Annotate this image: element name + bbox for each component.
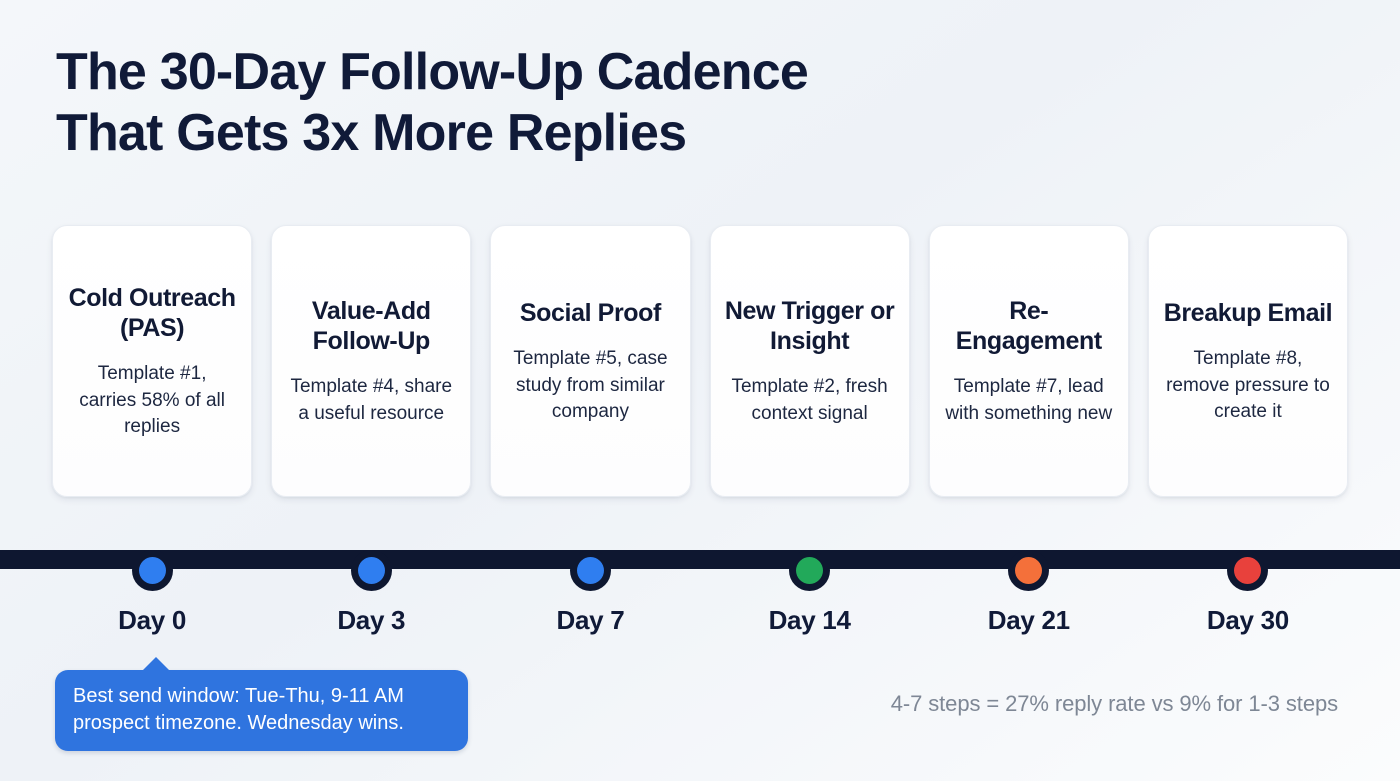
timeline-dot-icon bbox=[132, 550, 173, 591]
callout-text: Best send window: Tue-Thu, 9-11 AM prosp… bbox=[73, 683, 450, 737]
step-card-description: Template #8, remove pressure to create i… bbox=[1163, 346, 1333, 427]
timeline-day-label: Day 14 bbox=[710, 605, 910, 636]
step-card-3: Social Proof Template #5, case study fro… bbox=[490, 225, 690, 497]
timeline-day-label: Day 0 bbox=[52, 605, 252, 636]
step-card-5: Re-Engagement Template #7, lead with som… bbox=[929, 225, 1129, 497]
step-card-6: Breakup Email Template #8, remove pressu… bbox=[1148, 225, 1348, 497]
page-title: The 30-Day Follow-Up Cadence That Gets 3… bbox=[56, 42, 956, 165]
timeline-dot-icon bbox=[351, 550, 392, 591]
timeline-day-label: Day 30 bbox=[1148, 605, 1348, 636]
step-card-description: Template #1, carries 58% of all replies bbox=[67, 361, 237, 442]
timeline-dot-core bbox=[577, 557, 604, 584]
timeline-dot-icon bbox=[789, 550, 830, 591]
step-card-title: Value-Add Follow-Up bbox=[286, 296, 456, 356]
timeline-day-label: Day 3 bbox=[271, 605, 471, 636]
page-title-line-2: That Gets 3x More Replies bbox=[56, 103, 956, 164]
step-card-title: Breakup Email bbox=[1164, 298, 1332, 328]
best-send-window-callout: Best send window: Tue-Thu, 9-11 AM prosp… bbox=[55, 670, 468, 751]
page-title-line-1: The 30-Day Follow-Up Cadence bbox=[56, 42, 956, 103]
timeline-dot-icon bbox=[1227, 550, 1268, 591]
step-card-description: Template #4, share a useful resource bbox=[286, 374, 456, 428]
timeline-dot-icon bbox=[1008, 550, 1049, 591]
step-card-title: Re-Engagement bbox=[944, 296, 1114, 356]
footer-stat-text: 4-7 steps = 27% reply rate vs 9% for 1-3… bbox=[891, 691, 1338, 717]
timeline-dot-core bbox=[796, 557, 823, 584]
step-card-4: New Trigger or Insight Template #2, fres… bbox=[710, 225, 910, 497]
timeline-dot-icon bbox=[570, 550, 611, 591]
cadence-step-cards: Cold Outreach (PAS) Template #1, carries… bbox=[52, 225, 1348, 497]
timeline-dot-core bbox=[1234, 557, 1261, 584]
step-card-1: Cold Outreach (PAS) Template #1, carries… bbox=[52, 225, 252, 497]
step-card-description: Template #2, fresh context signal bbox=[725, 374, 895, 428]
timeline-day-label: Day 7 bbox=[490, 605, 690, 636]
step-card-title: New Trigger or Insight bbox=[725, 296, 895, 356]
step-card-2: Value-Add Follow-Up Template #4, share a… bbox=[271, 225, 471, 497]
timeline-dot-core bbox=[139, 557, 166, 584]
timeline-day-label: Day 21 bbox=[929, 605, 1129, 636]
step-card-title: Cold Outreach (PAS) bbox=[67, 283, 237, 343]
timeline-dot-core bbox=[358, 557, 385, 584]
step-card-description: Template #5, case study from similar com… bbox=[505, 346, 675, 427]
timeline-axis-bar bbox=[0, 550, 1400, 569]
step-card-description: Template #7, lead with something new bbox=[944, 374, 1114, 428]
timeline-dot-core bbox=[1015, 557, 1042, 584]
step-card-title: Social Proof bbox=[520, 298, 661, 328]
